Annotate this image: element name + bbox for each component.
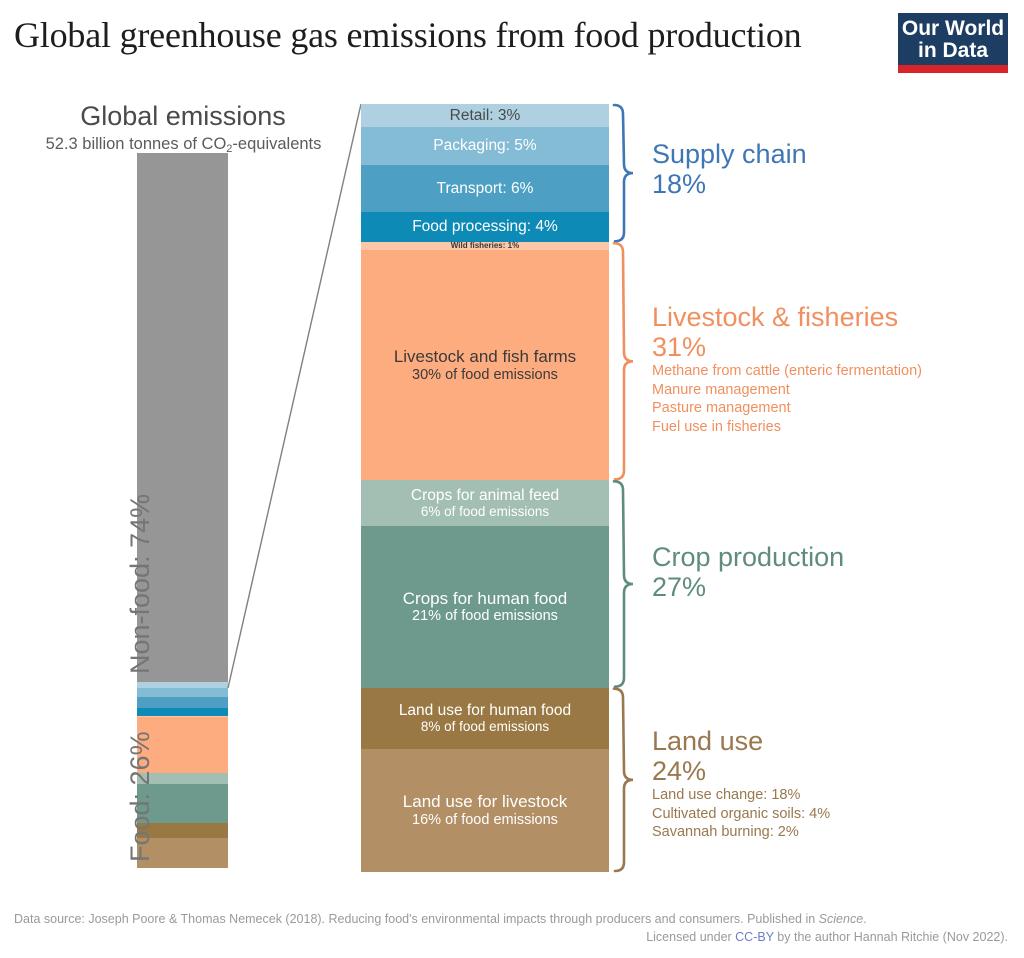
group-detail-item: Cultivated organic soils: 4% <box>652 805 830 823</box>
data-source-note: Data source: Joseph Poore & Thomas Nemec… <box>14 912 867 926</box>
license-pre: Licensed under <box>646 930 735 944</box>
detail-segment-sublabel: 6% of food emissions <box>421 504 549 520</box>
detail-segment-label: Livestock and fish farms <box>394 347 576 367</box>
overview-segment-food-processing <box>137 708 228 715</box>
license-note: Licensed under CC-BY by the author Hanna… <box>646 930 1008 944</box>
detail-segment-label: Retail: 3% <box>450 107 521 125</box>
detail-segment-label: Food processing: 4% <box>412 218 558 236</box>
group-annotation-supply-chain: Supply chain18% <box>652 140 807 199</box>
source-text-pre: Data source: Joseph Poore & Thomas Nemec… <box>14 912 819 926</box>
bracket-land-use <box>614 689 633 871</box>
bracket-supply-chain <box>614 105 633 241</box>
logo-accent-bar <box>898 65 1008 73</box>
detail-segment-label: Land use for human food <box>399 702 571 720</box>
group-detail-item: Methane from cattle (enteric fermentatio… <box>652 362 922 380</box>
detail-segment-label: Crops for human food <box>403 589 567 609</box>
overview-segment-packaging <box>137 688 228 697</box>
group-detail-item: Land use change: 18% <box>652 786 830 804</box>
subtitle-post: -equivalents <box>232 135 321 153</box>
group-percent: 27% <box>652 572 844 602</box>
food-share-label: Food: 26% <box>125 731 156 862</box>
group-percent: 18% <box>652 169 807 199</box>
source-text-post: . <box>863 912 866 926</box>
group-percent: 24% <box>652 756 830 786</box>
subtitle-pre: 52.3 billion tonnes of CO <box>46 135 227 153</box>
detail-segment-packaging: Packaging: 5% <box>361 127 609 165</box>
group-annotation-livestock-fisheries: Livestock & fisheries31%Methane from cat… <box>652 303 922 436</box>
page-title: Global greenhouse gas emissions from foo… <box>14 14 801 56</box>
logo-line-1: Our World <box>902 18 1004 39</box>
license-post: by the author Hannah Ritchie (Nov 2022). <box>774 930 1008 944</box>
group-name: Supply chain <box>652 140 807 169</box>
source-journal: Science <box>819 912 863 926</box>
detail-segment-label: Transport: 6% <box>437 180 534 198</box>
detail-segment-label: Packaging: 5% <box>433 137 536 155</box>
detail-segment-sublabel: 30% of food emissions <box>412 367 558 384</box>
detail-segment-livestock-and-fish-farms: Livestock and fish farms30% of food emis… <box>361 250 609 480</box>
detail-segment-sublabel: 16% of food emissions <box>412 812 558 829</box>
group-detail-item: Savannah burning: 2% <box>652 823 830 841</box>
detail-segment-land-use-for-livestock: Land use for livestock16% of food emissi… <box>361 749 609 872</box>
bracket-crop-production <box>614 481 633 686</box>
detail-segment-land-use-for-human-food: Land use for human food8% of food emissi… <box>361 688 609 749</box>
global-emissions-title: Global emissions <box>33 101 333 132</box>
group-detail-item: Pasture management <box>652 399 922 417</box>
bracket-livestock-fisheries <box>614 243 633 479</box>
group-percent: 31% <box>652 332 922 362</box>
group-detail-item: Fuel use in fisheries <box>652 418 922 436</box>
group-detail-item: Manure management <box>652 381 922 399</box>
overview-segment-transport <box>137 697 228 708</box>
detail-segment-crops-for-animal-feed: Crops for animal feed6% of food emission… <box>361 480 609 526</box>
detail-segment-retail: Retail: 3% <box>361 104 609 127</box>
group-name: Land use <box>652 727 830 756</box>
detail-segment-transport: Transport: 6% <box>361 165 609 211</box>
detail-segment-sublabel: 8% of food emissions <box>421 719 549 735</box>
cc-by-link[interactable]: CC-BY <box>735 930 774 944</box>
detail-segment-label: Land use for livestock <box>403 792 567 812</box>
detail-segment-sublabel: 21% of food emissions <box>412 608 558 625</box>
nonfood-share-label: Non-food: 74% <box>125 494 156 674</box>
detail-segment-wild-fisheries: Wild fisheries: 1% <box>361 242 609 250</box>
detail-segment-label: Crops for animal feed <box>411 487 559 505</box>
detail-segment-food-processing: Food processing: 4% <box>361 212 609 243</box>
group-annotation-land-use: Land use24%Land use change: 18%Cultivate… <box>652 727 830 842</box>
infographic-root: Global greenhouse gas emissions from foo… <box>0 0 1024 958</box>
group-name: Crop production <box>652 543 844 572</box>
logo-line-2: in Data <box>918 40 988 61</box>
detail-segment-crops-for-human-food: Crops for human food21% of food emission… <box>361 526 609 687</box>
food-emissions-detail-bar: Retail: 3%Packaging: 5%Transport: 6%Food… <box>361 104 609 872</box>
group-name: Livestock & fisheries <box>652 303 922 332</box>
global-emissions-subtitle: 52.3 billion tonnes of CO2-equivalents <box>26 135 341 154</box>
group-annotation-crop-production: Crop production27% <box>652 543 844 602</box>
owid-logo[interactable]: Our World in Data <box>898 13 1008 73</box>
